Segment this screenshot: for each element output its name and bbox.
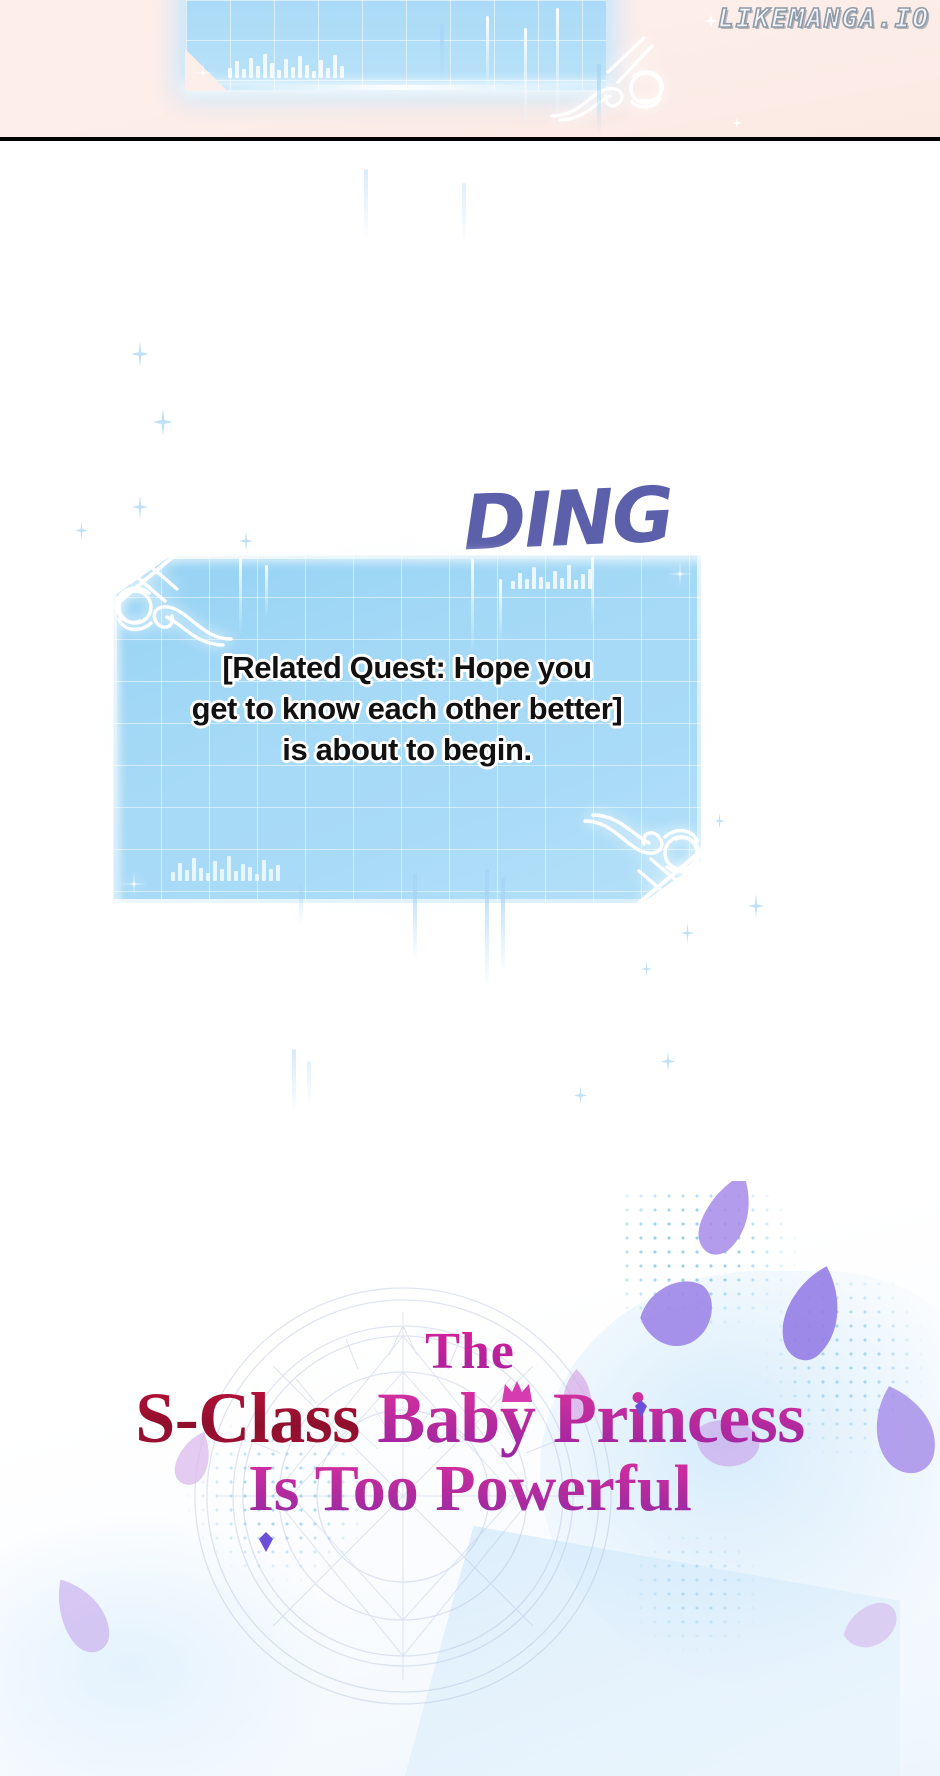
glow-drip	[524, 28, 527, 132]
glow-drip	[499, 579, 502, 643]
glow-drip	[440, 24, 444, 82]
panel-top-system-window: LIKEMANGA.IO	[0, 0, 940, 141]
quest-dialog-box: [Related Quest: Hope you get to know eac…	[113, 555, 701, 903]
bar-chart-decoration	[511, 563, 592, 589]
sparkle-icon	[153, 408, 173, 436]
title-line-sub: Is Too Powerful	[0, 1456, 940, 1522]
sparkle-icon	[661, 1051, 675, 1072]
sparkle-small-icon	[704, 14, 718, 28]
glow-drip	[462, 183, 466, 245]
sparkle-small-icon	[732, 118, 742, 128]
panel-main-quest: DING	[0, 141, 940, 1181]
glow-drip	[471, 559, 474, 655]
quest-box-edge-bottom	[113, 899, 645, 903]
title-baby-princess: Baby Princess	[377, 1378, 805, 1458]
system-window-bottom-rim	[186, 85, 606, 90]
series-title: The S-Class Baby Princess Is Too Powerfu…	[0, 1326, 940, 1522]
glow-drip	[307, 1061, 311, 1105]
gem-icon	[258, 1531, 274, 1553]
glow-drip	[364, 169, 368, 241]
sparkle-icon	[574, 1086, 587, 1105]
title-sclass: S-Class	[135, 1378, 360, 1458]
sparkle-icon	[667, 561, 693, 587]
sparkle-icon	[131, 341, 149, 367]
panel-title-footer: The S-Class Baby Princess Is Too Powerfu…	[0, 1181, 940, 1776]
crown-icon	[500, 1378, 534, 1404]
gem-icon	[634, 1399, 648, 1419]
glow-drip	[265, 565, 268, 617]
quest-line-1: [Related Quest: Hope you	[113, 647, 701, 688]
glow-drip	[501, 877, 505, 973]
bar-chart-decoration	[171, 855, 280, 881]
sparkle-icon	[75, 521, 88, 540]
sparkle-icon	[748, 894, 764, 918]
halftone-dots	[620, 1531, 770, 1661]
glow-drip	[292, 1049, 296, 1115]
glow-drip	[591, 557, 594, 627]
sparkle-icon	[641, 961, 652, 977]
webtoon-page: LIKEMANGA.IO DING	[0, 0, 940, 1776]
quest-box-edge-top	[169, 555, 701, 559]
glow-drip	[485, 869, 489, 989]
title-line-main: S-Class Baby Princess	[0, 1382, 940, 1454]
sparkle-icon	[121, 871, 147, 897]
glow-drip	[413, 873, 417, 961]
glow-drip	[556, 8, 559, 126]
sparkle-icon	[117, 563, 147, 593]
ornate-corner-flourish-icon	[577, 803, 707, 913]
sparkle-icon	[190, 60, 216, 86]
glow-drip	[486, 16, 489, 98]
sparkle-icon	[681, 923, 694, 943]
quest-line-3: is about to begin.	[113, 729, 701, 770]
title-line-the: The	[0, 1326, 940, 1378]
watermark-likemanga: LIKEMANGA.IO	[718, 4, 930, 34]
sparkle-icon	[132, 495, 148, 519]
glow-drip	[239, 557, 242, 635]
glow-drip	[299, 885, 303, 925]
sparkle-icon	[714, 813, 725, 829]
quest-text: [Related Quest: Hope you get to know eac…	[113, 647, 701, 771]
ornate-corner-flourish-icon	[548, 32, 668, 132]
bar-chart-decoration	[228, 52, 344, 78]
quest-line-2: get to know each other better]	[113, 688, 701, 729]
glow-drip	[597, 64, 601, 134]
